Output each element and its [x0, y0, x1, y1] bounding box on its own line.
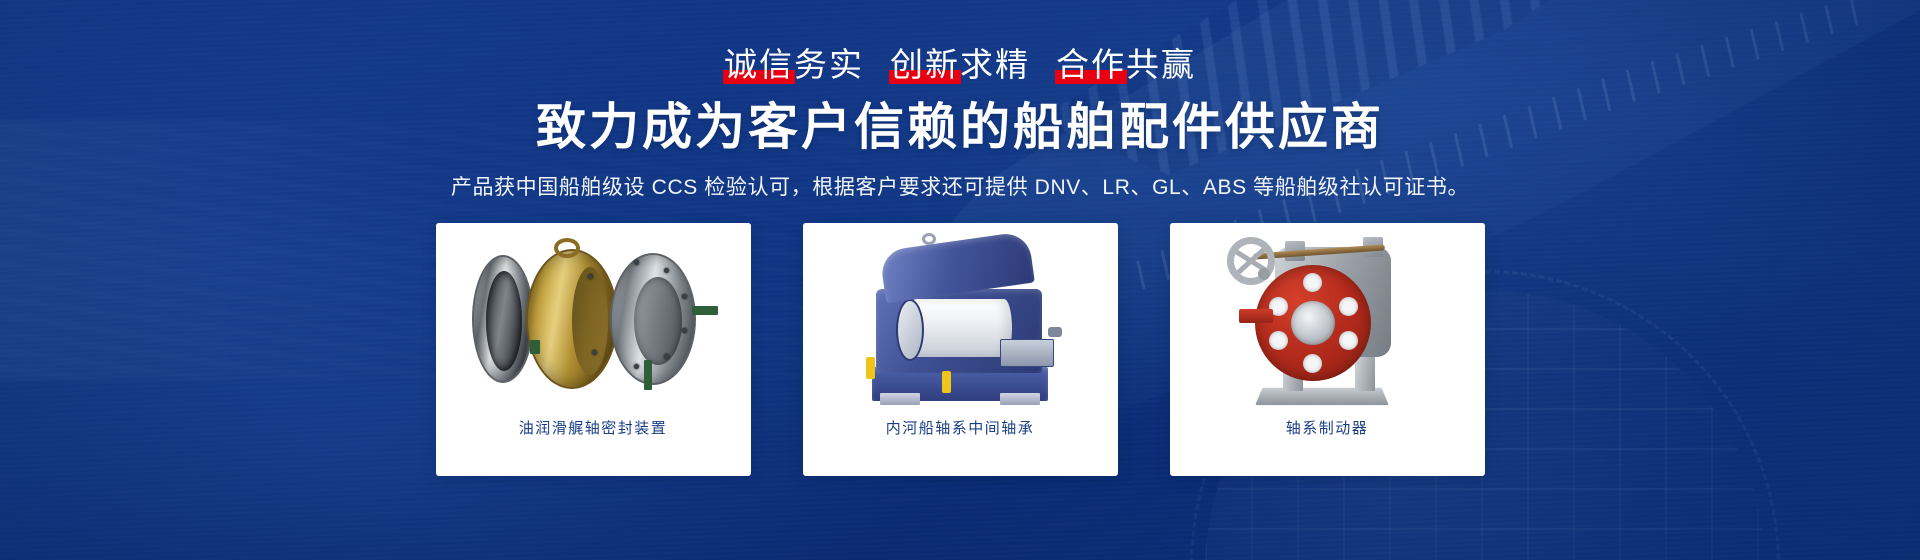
product-card-list: 油润滑艉轴密封装置 内河船 — [436, 223, 1485, 476]
product-image-oil-lubricated-stern-shaft-seal — [436, 223, 751, 415]
headline: 致力成为客户信赖的船舶配件供应商 — [536, 97, 1384, 157]
tagline-segment: 求精 — [960, 46, 1030, 83]
product-image-shaft-brake — [1170, 223, 1485, 415]
tagline-segment-highlighted: 创新 — [890, 48, 960, 81]
hero-banner: 诚信务实 创新求精 合作共赢 致力成为客户信赖的船舶配件供应商 产品获中国船舶级… — [0, 0, 1920, 560]
product-card[interactable]: 内河船轴系中间轴承 — [803, 223, 1118, 476]
tagline-group-3: 合作共赢 — [1054, 48, 1198, 81]
tagline-group-2: 创新求精 — [888, 48, 1032, 81]
product-card[interactable]: 轴系制动器 — [1170, 223, 1485, 476]
tagline: 诚信务实 创新求精 合作共赢 — [722, 48, 1198, 81]
product-card-label: 油润滑艉轴密封装置 — [519, 421, 668, 436]
product-card[interactable]: 油润滑艉轴密封装置 — [436, 223, 751, 476]
tagline-segment-highlighted: 合作 — [1056, 48, 1126, 81]
product-card-label: 内河船轴系中间轴承 — [886, 421, 1035, 436]
tagline-group-1: 诚信务实 — [722, 48, 866, 81]
product-image-inland-vessel-intermediate-bearing — [803, 223, 1118, 415]
tagline-segment-highlighted: 诚信 — [724, 48, 794, 81]
subheadline: 产品获中国船舶级设 CCS 检验认可，根据客户要求还可提供 DNV、LR、GL、… — [451, 171, 1469, 201]
tagline-segment: 共赢 — [1126, 46, 1196, 83]
tagline-segment: 务实 — [794, 46, 864, 83]
product-card-label: 轴系制动器 — [1286, 421, 1369, 436]
